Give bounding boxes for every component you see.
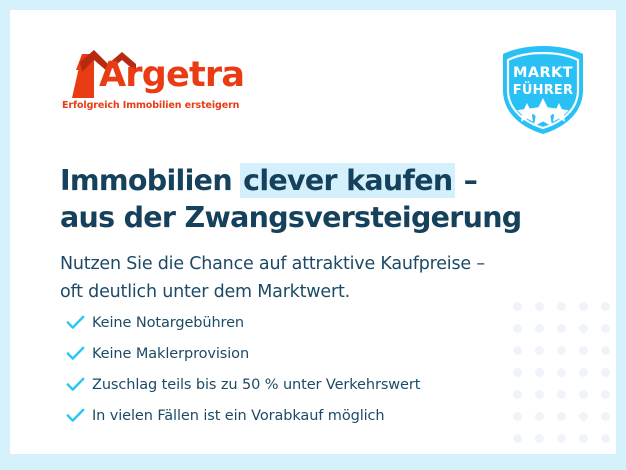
decoration-dot [601,390,610,399]
decoration-dot [579,302,588,311]
subheading-line-2: oft deutlich unter dem Marktwert. [60,282,350,302]
page-headline: Immobilien clever kaufen –aus der Zwangs… [60,162,560,236]
benefit-list-item-label: In vielen Fällen ist ein Vorabkauf mögli… [92,408,385,424]
shield-badge-icon [499,44,587,136]
decoration-dot [579,390,588,399]
decoration-dot [579,346,588,355]
benefit-list-item-label: Keine Notargebühren [92,315,244,331]
check-icon [66,344,92,364]
decoration-dot [601,412,610,421]
benefit-list-item-label: Keine Maklerprovision [92,346,249,362]
ad-banner: Argetra Erfolgreich Immobilien ersteiger… [0,0,626,470]
decoration-dot [579,324,588,333]
benefit-list-item-label: Zuschlag teils bis zu 50 % unter Verkehr… [92,377,420,393]
check-icon [66,375,92,395]
decoration-dot [557,368,566,377]
check-icon [66,406,92,426]
decoration-dot [579,412,588,421]
decoration-dot [535,434,544,443]
decoration-dot [557,324,566,333]
benefit-list-item: Keine Notargebühren [66,307,536,338]
decoration-dot [601,324,610,333]
check-icon [66,313,92,333]
decoration-dot [557,346,566,355]
decoration-dot [601,346,610,355]
decoration-dot [557,412,566,421]
benefit-list-item: Zuschlag teils bis zu 50 % unter Verkehr… [66,369,536,400]
benefit-list-item: Keine Maklerprovision [66,338,536,369]
decoration-dot [557,302,566,311]
logo-mark-row: Argetra [60,48,260,100]
ad-content-card: Argetra Erfolgreich Immobilien ersteiger… [10,10,616,454]
headline-text-after: – [454,164,477,197]
decoration-dot [513,434,522,443]
brand-logo[interactable]: Argetra Erfolgreich Immobilien ersteiger… [60,48,260,100]
headline-highlight: clever kaufen [240,163,455,198]
market-leader-badge: MARKT FÜHRER [499,44,587,136]
decoration-dot [601,434,610,443]
decoration-dot [557,390,566,399]
benefit-list-item: In vielen Fällen ist ein Vorabkauf mögli… [66,400,536,431]
page-subheading: Nutzen Sie die Chance auf attraktive Kau… [60,250,530,306]
brand-wordmark: Argetra [99,52,244,98]
decoration-dot [601,368,610,377]
decoration-dot [579,368,588,377]
headline-line-2: aus der Zwangsversteigerung [60,201,522,234]
brand-tagline: Erfolgreich Immobilien ersteigern [62,100,239,111]
decoration-dot [579,434,588,443]
subheading-line-1: Nutzen Sie die Chance auf attraktive Kau… [60,254,485,274]
benefit-list: Keine NotargebührenKeine Maklerprovision… [66,307,536,431]
decoration-dot [601,302,610,311]
decoration-dot [557,434,566,443]
headline-text-before: Immobilien [60,164,241,197]
